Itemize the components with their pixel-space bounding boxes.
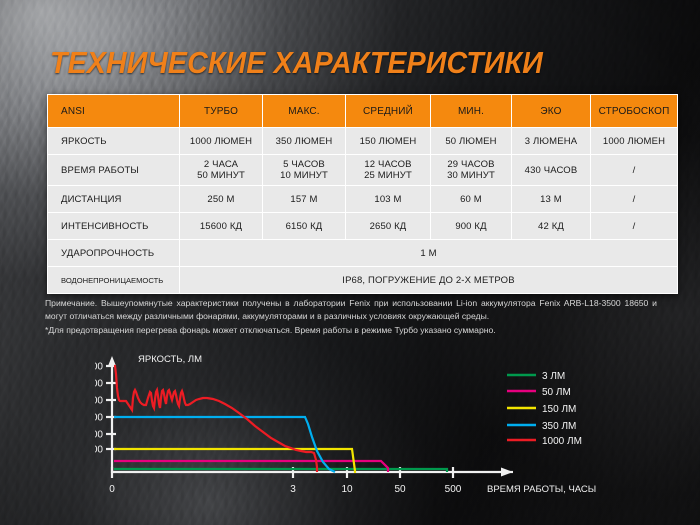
cell-brightness-eco: 3 ЛЮМЕНА — [512, 128, 591, 155]
xtick-10: 10 — [341, 484, 353, 495]
cell-runtime-medium: 12 ЧАСОВ25 МИНУТ — [346, 155, 431, 186]
table-row: ЯРКОСТЬ 1000 ЛЮМЕН 350 ЛЮМЕН 150 ЛЮМЕН 5… — [48, 128, 678, 155]
cell-distance-turbo: 250 М — [180, 186, 263, 213]
ytick-100: 100 — [95, 445, 103, 456]
xtick-50: 50 — [394, 484, 406, 495]
cell-brightness-turbo: 1000 ЛЮМЕН — [180, 128, 263, 155]
series-line-1000lm — [114, 366, 317, 472]
legend-label-150lm: 150 ЛМ — [542, 404, 576, 415]
row-label-runtime: ВРЕМЯ РАБОТЫ — [48, 155, 180, 186]
cell-intensity-min: 900 КД — [431, 213, 512, 240]
table-row: ВРЕМЯ РАБОТЫ 2 ЧАСА50 МИНУТ 5 ЧАСОВ10 МИ… — [48, 155, 678, 186]
table-row: ВОДОНЕПРОНИЦАЕМОСТЬ IP68, ПОГРУЖЕНИЕ ДО … — [48, 267, 678, 294]
cell-brightness-max: 350 ЛЮМЕН — [263, 128, 346, 155]
column-header-strobe: СТРОБОСКОП — [591, 95, 678, 128]
chart-x-tick-labels: 0 3 10 50 500 — [109, 484, 462, 495]
cell-runtime-max: 5 ЧАСОВ10 МИНУТ — [263, 155, 346, 186]
legend-label-50lm: 50 ЛМ — [542, 387, 571, 398]
cell-brightness-medium: 150 ЛЮМЕН — [346, 128, 431, 155]
footnote-block: Примечание. Вышеупомянутые характеристик… — [45, 297, 657, 338]
chart-y-tick-labels: 1000 800 600 400 200 100 — [95, 362, 103, 456]
cell-distance-strobe: / — [591, 186, 678, 213]
page-title: ТЕХНИЧЕСКИЕ ХАРАКТЕРИСТИКИ — [50, 46, 543, 80]
xtick-500: 500 — [445, 484, 462, 495]
cell-brightness-strobe: 1000 ЛЮМЕН — [591, 128, 678, 155]
cell-distance-min: 60 М — [431, 186, 512, 213]
ytick-800: 800 — [95, 379, 103, 390]
cell-intensity-eco: 42 КД — [512, 213, 591, 240]
cell-runtime-strobe: / — [591, 155, 678, 186]
slide-canvas: ТЕХНИЧЕСКИЕ ХАРАКТЕРИСТИКИ ANSI ТУРБО МА… — [0, 0, 700, 525]
cell-distance-eco: 13 М — [512, 186, 591, 213]
runtime-min-line2: 30 МИНУТ — [447, 170, 495, 181]
row-label-impact-resistance: УДАРОПРОЧНОСТЬ — [48, 240, 180, 267]
column-header-medium: СРЕДНИЙ — [346, 95, 431, 128]
column-header-min: МИН. — [431, 95, 512, 128]
runtime-chart-svg: 1000 800 600 400 200 100 0 3 10 50 500 — [95, 352, 670, 512]
runtime-max-line2: 10 МИНУТ — [280, 170, 328, 181]
ytick-200: 200 — [95, 430, 103, 441]
legend-label-1000lm: 1000 ЛМ — [542, 436, 582, 447]
runtime-max-line1: 5 ЧАСОВ — [283, 159, 325, 170]
runtime-turbo-line2: 50 МИНУТ — [197, 170, 245, 181]
specifications-table: ANSI ТУРБО МАКС. СРЕДНИЙ МИН. ЭКО СТРОБО… — [47, 94, 678, 294]
row-label-distance: ДИСТАНЦИЯ — [48, 186, 180, 213]
table-row: ИНТЕНСИВНОСТЬ 15600 КД 6150 КД 2650 КД 9… — [48, 213, 678, 240]
xtick-3: 3 — [290, 484, 296, 495]
series-line-350lm — [114, 417, 335, 472]
table-row: УДАРОПРОЧНОСТЬ 1 М — [48, 240, 678, 267]
ytick-600: 600 — [95, 396, 103, 407]
ytick-1000: 1000 — [95, 362, 103, 373]
xtick-0: 0 — [109, 484, 115, 495]
runtime-medium-line1: 12 ЧАСОВ — [364, 159, 411, 170]
row-label-brightness: ЯРКОСТЬ — [48, 128, 180, 155]
cell-runtime-min: 29 ЧАСОВ30 МИНУТ — [431, 155, 512, 186]
cell-intensity-turbo: 15600 КД — [180, 213, 263, 240]
chart-legend: 3 ЛМ 50 ЛМ 150 ЛМ 350 ЛМ 1000 ЛМ — [507, 371, 582, 447]
chart-x-axis-title: ВРЕМЯ РАБОТЫ, ЧАСЫ — [487, 484, 596, 495]
legend-label-350lm: 350 ЛМ — [542, 421, 576, 432]
ytick-400: 400 — [95, 413, 103, 424]
chart-y-axis-title: ЯРКОСТЬ, ЛМ — [138, 354, 202, 365]
column-header-eco: ЭКО — [512, 95, 591, 128]
column-header-turbo: ТУРБО — [180, 95, 263, 128]
cell-brightness-min: 50 ЛЮМЕН — [431, 128, 512, 155]
cell-intensity-max: 6150 КД — [263, 213, 346, 240]
cell-runtime-turbo: 2 ЧАСА50 МИНУТ — [180, 155, 263, 186]
cell-intensity-medium: 2650 КД — [346, 213, 431, 240]
cell-runtime-eco: 430 ЧАСОВ — [512, 155, 591, 186]
cell-distance-max: 157 М — [263, 186, 346, 213]
row-label-waterproof: ВОДОНЕПРОНИЦАЕМОСТЬ — [48, 267, 180, 294]
footnote-paragraph-2: *Для предотвращения перегрева фонарь мож… — [45, 324, 657, 337]
cell-distance-medium: 103 М — [346, 186, 431, 213]
cell-impact-resistance-value: 1 М — [180, 240, 678, 267]
table-row: ДИСТАНЦИЯ 250 М 157 М 103 М 60 М 13 М / — [48, 186, 678, 213]
row-label-intensity: ИНТЕНСИВНОСТЬ — [48, 213, 180, 240]
runtime-turbo-line1: 2 ЧАСА — [204, 159, 238, 170]
column-header-ansi: ANSI — [48, 95, 180, 128]
runtime-min-line1: 29 ЧАСОВ — [447, 159, 494, 170]
footnote-paragraph-1: Примечание. Вышеупомянутые характеристик… — [45, 297, 657, 323]
cell-intensity-strobe: / — [591, 213, 678, 240]
legend-label-3lm: 3 ЛМ — [542, 371, 565, 382]
runtime-chart: 1000 800 600 400 200 100 0 3 10 50 500 — [95, 352, 670, 512]
table-header-row: ANSI ТУРБО МАКС. СРЕДНИЙ МИН. ЭКО СТРОБО… — [48, 95, 678, 128]
cell-waterproof-value: IP68, ПОГРУЖЕНИЕ ДО 2-Х МЕТРОВ — [180, 267, 678, 294]
column-header-max: МАКС. — [263, 95, 346, 128]
runtime-medium-line2: 25 МИНУТ — [364, 170, 412, 181]
